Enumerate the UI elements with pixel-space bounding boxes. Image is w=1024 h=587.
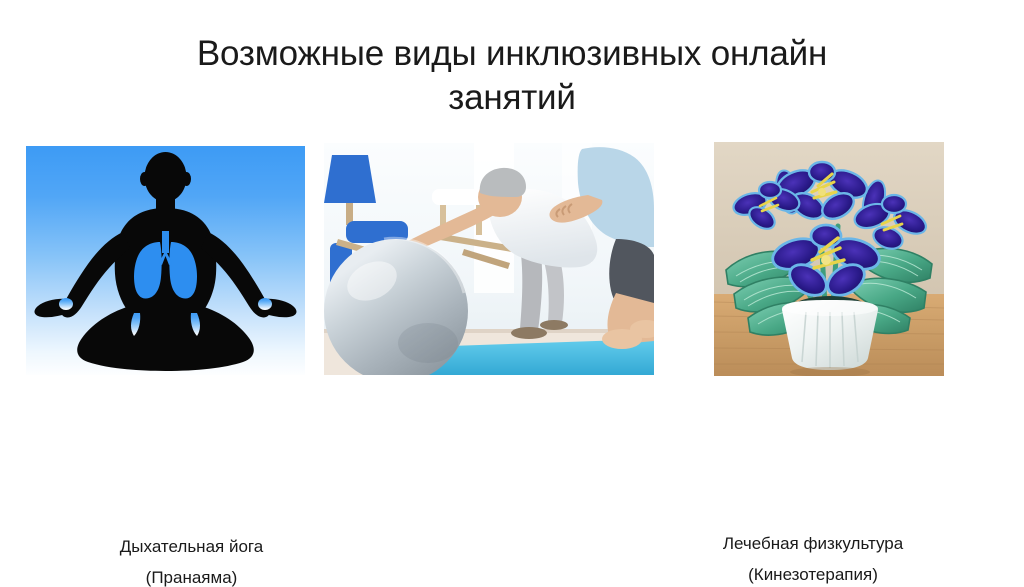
content-card-beadwork: Мастер-классы (например, бисероплетение)	[714, 142, 944, 376]
slide-canvas: Возможные виды инклюзивных онлайн заняти…	[0, 0, 1024, 574]
content-card-physio: Лечебная физкультура (Кинезотерапия)	[324, 143, 654, 375]
beaded-violets-illustration	[714, 142, 944, 376]
caption-physio: Лечебная физкультура (Кинезотерапия)	[648, 535, 978, 583]
caption-yoga-line1: Дыхательная йога	[120, 537, 263, 556]
caption-physio-line2: (Кинезотерапия)	[648, 566, 978, 583]
physical-therapy-photo	[324, 143, 654, 375]
page-title: Возможные виды инклюзивных онлайн заняти…	[90, 32, 934, 120]
content-card-yoga: Дыхательная йога (Пранаяма)	[26, 146, 305, 375]
caption-yoga-line2: (Пранаяма)	[52, 569, 331, 586]
beaded-flowers-photo	[714, 142, 944, 376]
breathing-yoga-silhouette-photo	[26, 146, 305, 375]
caption-yoga: Дыхательная йога (Пранаяма)	[52, 538, 331, 586]
physiotherapy-scene-illustration	[324, 143, 654, 375]
caption-physio-line1: Лечебная физкультура	[723, 534, 903, 553]
yoga-lotus-silhouette-icon	[26, 146, 305, 375]
